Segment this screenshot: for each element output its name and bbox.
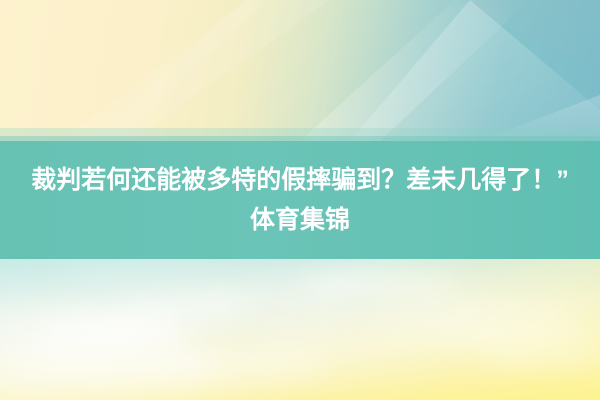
headline-line-2: 体育集锦 [250, 201, 350, 239]
banner-top-gradient [0, 0, 600, 141]
top-facet-shapes [0, 0, 600, 141]
sports-highlight-banner: 裁判若何还能被多特的假摔骗到？差未几得了！” 体育集锦 [0, 0, 600, 400]
headline-band: 裁判若何还能被多特的假摔骗到？差未几得了！” 体育集锦 [0, 141, 600, 259]
sky-color-overlay [0, 259, 600, 400]
facet-shape-e [60, 0, 330, 141]
banner-sky [0, 259, 600, 400]
headline-text-block: 裁判若何还能被多特的假摔骗到？差未几得了！” 体育集锦 [0, 141, 600, 259]
facet-shape-f [90, 0, 268, 141]
headline-line-1: 裁判若何还能被多特的假摔骗到？差未几得了！” [0, 161, 600, 199]
